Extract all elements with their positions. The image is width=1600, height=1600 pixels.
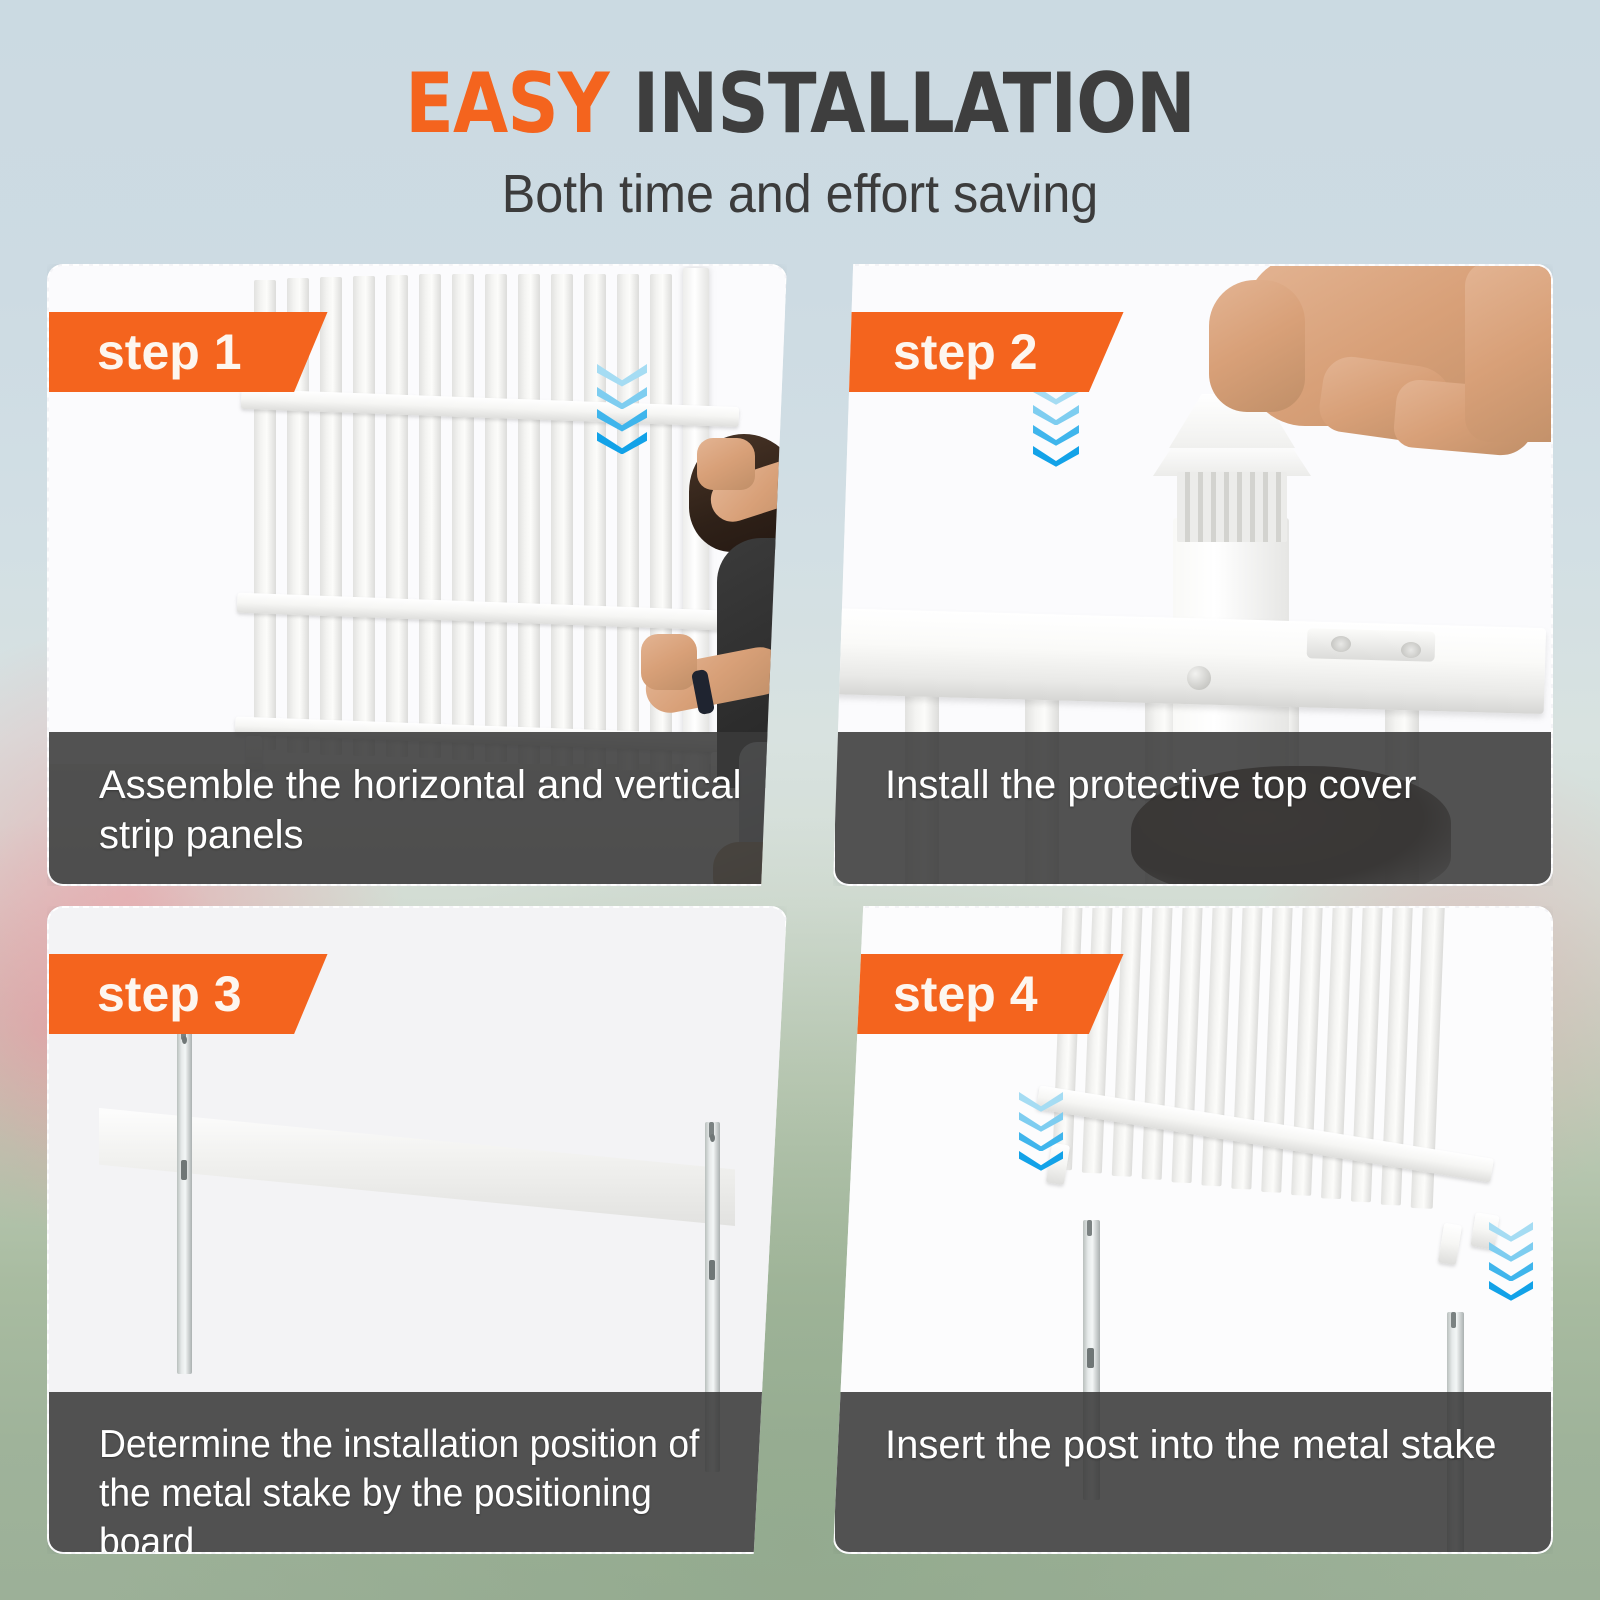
panel-bracket-right	[1438, 1223, 1462, 1265]
step-4-chevrons-left	[1019, 1092, 1063, 1171]
chevron-down-icon	[1033, 425, 1079, 446]
stake-left-slot-4	[1087, 1348, 1094, 1368]
step-4-caption-text: Insert the post into the metal stake	[885, 1420, 1515, 1470]
person-hand-top	[697, 438, 755, 490]
step-4-caption: Insert the post into the metal stake	[835, 1392, 1551, 1552]
chevron-down-icon	[1489, 1242, 1533, 1262]
chevron-down-icon	[1489, 1281, 1533, 1301]
steps-grid: step 1 Assemble the horizontal and verti…	[47, 264, 1553, 1554]
step-1-chevrons	[597, 364, 647, 454]
stake-right-slot	[709, 1260, 715, 1280]
step-card-4[interactable]: step 4 Insert the post into the metal st…	[833, 906, 1553, 1554]
header: EASY INSTALLATION Both time and effort s…	[0, 0, 1600, 221]
step-card-2[interactable]: step 2 Install the protective top cover	[833, 264, 1553, 886]
step-4-badge-label: step 4	[893, 969, 1038, 1019]
rail-screw	[1187, 666, 1211, 690]
chevron-down-icon	[1033, 405, 1079, 426]
chevron-down-icon	[1489, 1222, 1533, 1242]
page-title: EASY INSTALLATION	[112, 62, 1488, 145]
metal-stake-left	[177, 1024, 192, 1374]
stake-left-hole	[182, 1036, 187, 1044]
stake-right-hole	[710, 1134, 715, 1142]
step-card-3[interactable]: step 3 Determine the installation positi…	[47, 906, 787, 1554]
person-hand-bottom	[641, 634, 697, 690]
positioning-board	[99, 1108, 735, 1226]
step-4-badge: step 4	[835, 954, 1124, 1034]
chevron-down-icon	[597, 432, 647, 455]
step-2-badge-label: step 2	[893, 327, 1038, 377]
title-rest-word: INSTALLATION	[633, 55, 1195, 152]
chevron-down-icon	[1019, 1132, 1063, 1152]
chevron-down-icon	[1019, 1151, 1063, 1171]
step-2-caption: Install the protective top cover	[835, 732, 1551, 884]
chevron-down-icon	[597, 387, 647, 410]
step-4-chevrons-right	[1489, 1222, 1533, 1301]
step-1-badge: step 1	[49, 312, 328, 392]
infographic-page: EASY INSTALLATION Both time and effort s…	[0, 0, 1600, 1600]
title-accent-word: EASY	[405, 55, 609, 152]
step-2-badge: step 2	[835, 312, 1124, 392]
step-2-caption-text: Install the protective top cover	[885, 760, 1515, 810]
step-3-badge: step 3	[49, 954, 328, 1034]
post-cap-ribs	[1177, 472, 1287, 542]
page-subtitle: Both time and effort saving	[56, 167, 1544, 221]
bracket-hole-left	[1331, 636, 1351, 652]
chevron-down-icon	[597, 364, 647, 387]
step-2-chevrons	[1033, 384, 1079, 467]
step-3-caption-text: Determine the installation position of t…	[99, 1420, 720, 1554]
wrist	[1465, 266, 1551, 442]
chevron-down-icon	[1019, 1092, 1063, 1112]
step-1-caption: Assemble the horizontal and vertical str…	[49, 732, 785, 884]
step-card-1[interactable]: step 1 Assemble the horizontal and verti…	[47, 264, 787, 886]
step-3-badge-label: step 3	[97, 969, 242, 1019]
chevron-down-icon	[597, 409, 647, 432]
step-1-caption-text: Assemble the horizontal and vertical str…	[99, 760, 749, 861]
chevron-down-icon	[1019, 1112, 1063, 1132]
step-3-caption: Determine the installation position of t…	[49, 1392, 785, 1552]
chevron-down-icon	[1489, 1262, 1533, 1282]
step-1-badge-label: step 1	[97, 327, 242, 377]
stake-left-slot	[181, 1160, 187, 1180]
bracket-hole-right	[1401, 642, 1421, 658]
chevron-down-icon	[1033, 446, 1079, 467]
thumb	[1209, 280, 1305, 412]
